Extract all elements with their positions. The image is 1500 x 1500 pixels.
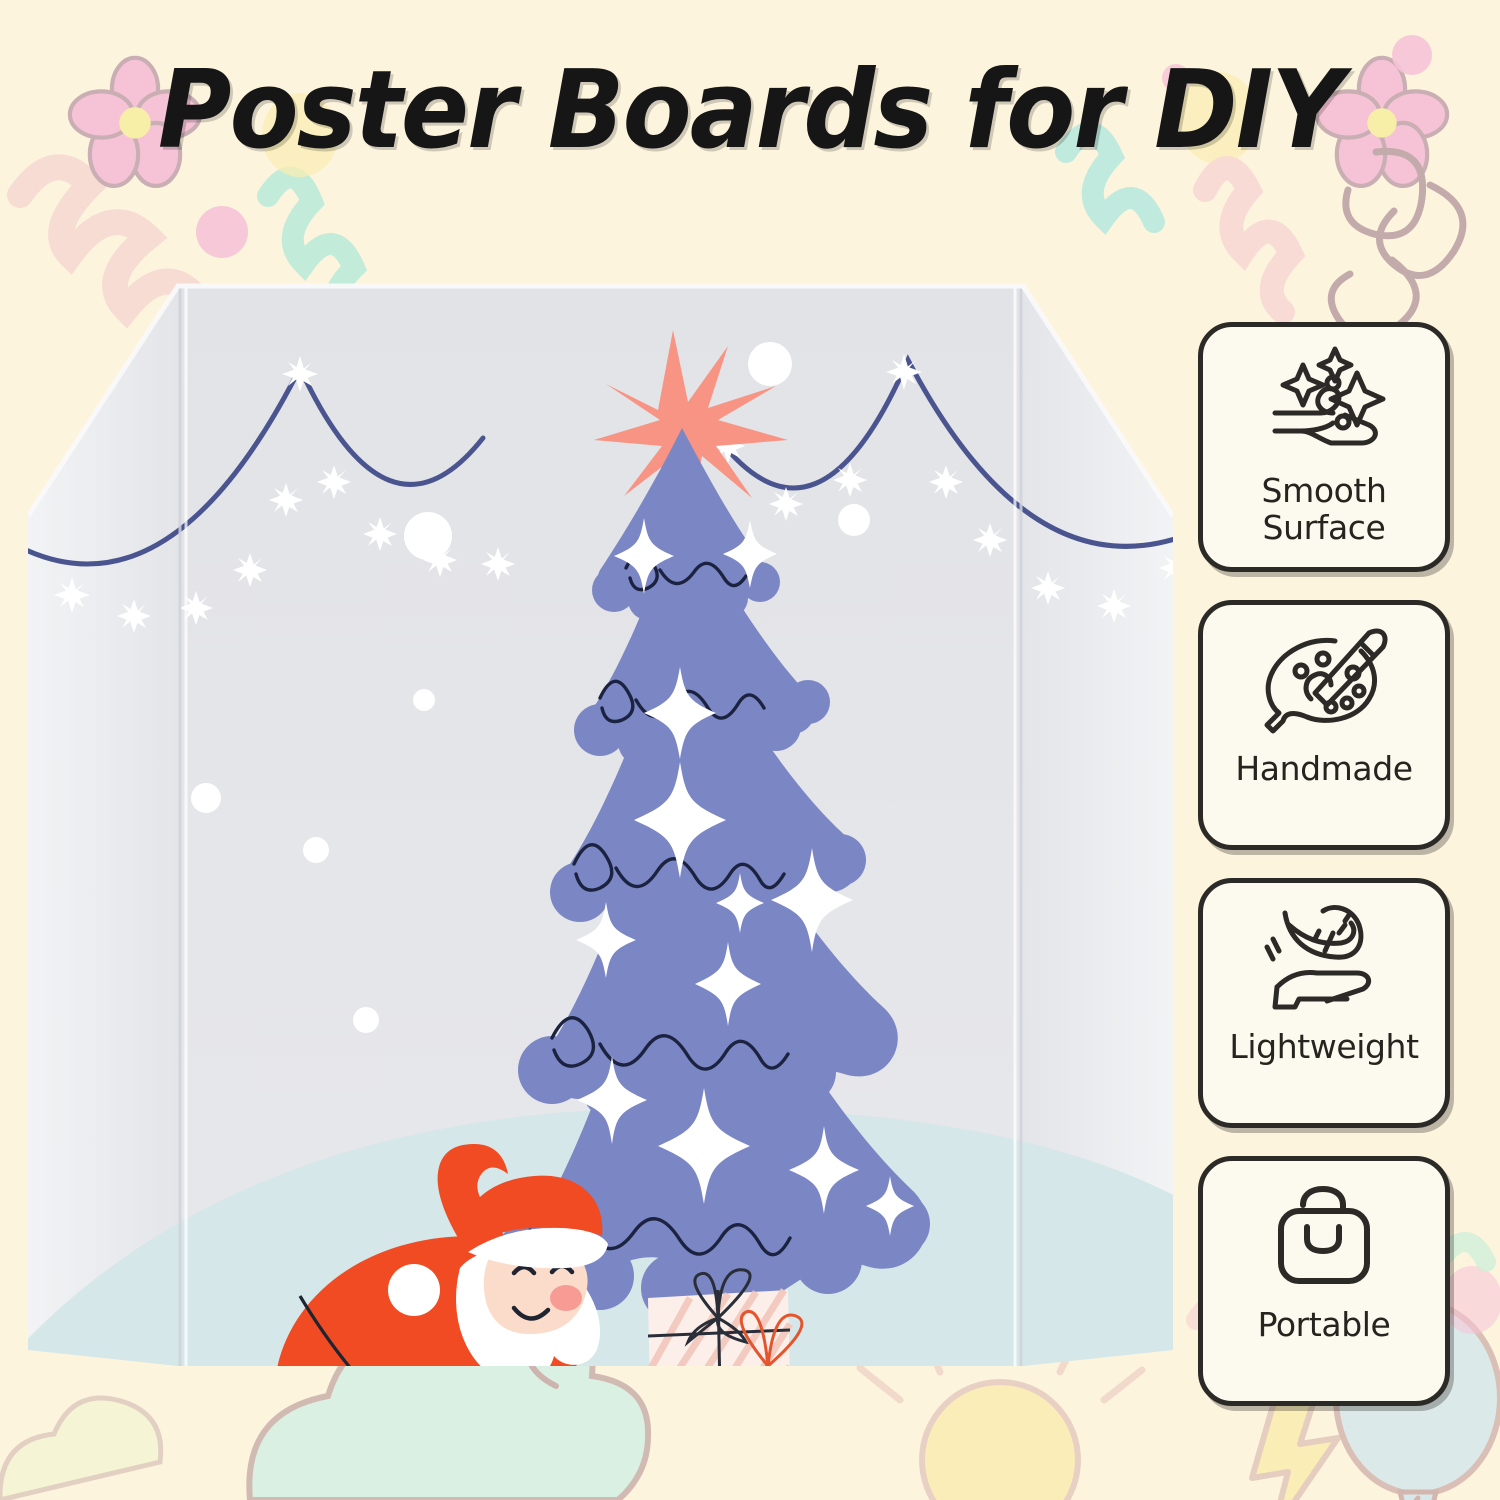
briefcase-icon	[1249, 1177, 1399, 1301]
spiral-doodle	[1331, 151, 1463, 337]
feature-badge-lightweight[interactable]: Lightweight	[1198, 878, 1450, 1128]
feature-badge-portable[interactable]: Portable	[1198, 1156, 1450, 1406]
cloud-doodle-small	[0, 1398, 161, 1500]
santa-nose	[550, 1285, 582, 1311]
pink-dot	[196, 206, 248, 258]
feature-label: Smooth Surface	[1262, 473, 1387, 547]
feature-label: Handmade	[1235, 751, 1412, 788]
board-illustration	[28, 268, 1173, 1378]
page-title: Poster Boards for DIY	[53, 48, 1448, 173]
blush-scribble-right	[1205, 168, 1291, 312]
hand-sparkle-icon	[1249, 343, 1399, 467]
santa-arm	[454, 1368, 596, 1378]
board-panel-left	[28, 286, 178, 1366]
trifold-poster-board	[28, 268, 1173, 1378]
poster-marketing-image: Poster Boards for DIY	[0, 0, 1500, 1500]
santa-pompom	[388, 1264, 440, 1316]
feature-badge-list: Smooth Surface Handmade	[1198, 322, 1458, 1434]
feature-label: Lightweight	[1229, 1029, 1418, 1066]
feature-label: Portable	[1258, 1307, 1391, 1344]
palette-brush-icon	[1249, 621, 1399, 745]
feather-hand-icon	[1249, 899, 1399, 1023]
feature-badge-handmade[interactable]: Handmade	[1198, 600, 1450, 850]
feature-badge-smooth-surface[interactable]: Smooth Surface	[1198, 322, 1450, 572]
